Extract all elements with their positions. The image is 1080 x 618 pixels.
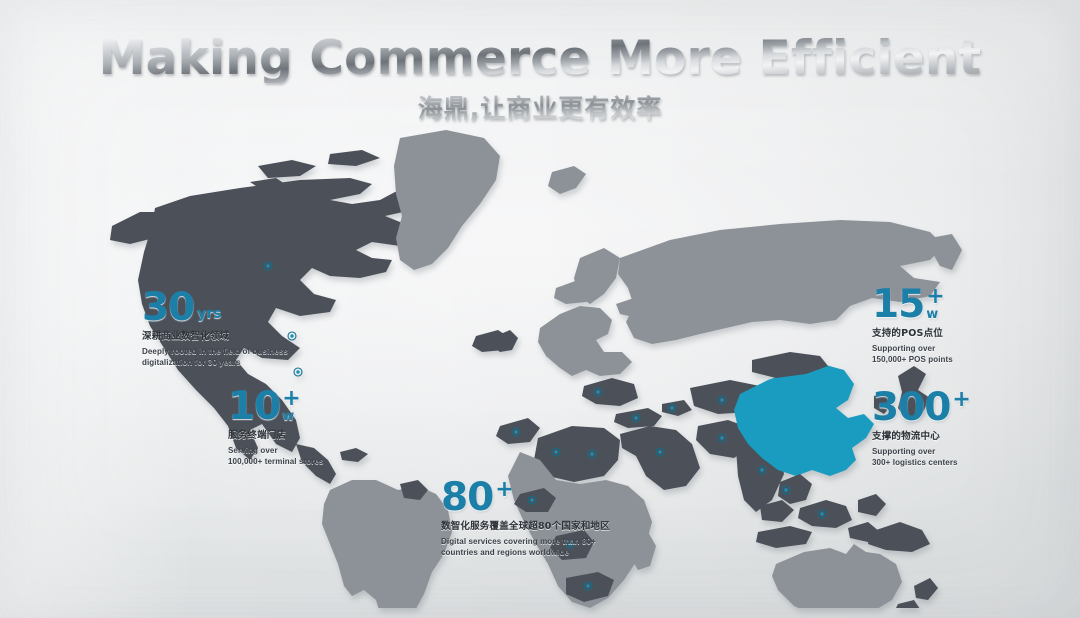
region-ukraine <box>582 378 638 406</box>
stat-suffix: + <box>495 480 513 499</box>
region-morocco <box>496 418 540 444</box>
stat-label-cn: 支撑的物流中心 <box>872 431 971 443</box>
stat-label-en: Deeply rooted in the field of business d… <box>142 346 288 369</box>
stat-label-en: Serving over 100,000+ terminal stores <box>228 445 324 468</box>
stat-number: 10 <box>228 389 280 425</box>
stat-en-line1: Supporting over <box>872 446 971 458</box>
stat-value: 80 + <box>441 480 610 516</box>
stat-unit: w <box>282 411 294 423</box>
stat-label-cn: 支持的POS点位 <box>872 328 953 340</box>
region-south-america <box>322 480 452 608</box>
page-subtitle: 海鼎,让商业更有效率 <box>0 89 1080 125</box>
stat-en-line2: 150,000+ POS points <box>872 354 953 366</box>
stat-callout-15w: 15 + w 支持的POS点位 Supporting over 150,000+… <box>872 287 953 366</box>
stat-plus: + <box>495 482 513 499</box>
stat-callout-80: 80 + 数智化服务覆盖全球超80个国家和地区 Digital services… <box>441 480 610 559</box>
stat-unit: yrs <box>197 308 221 321</box>
stat-value: 10 + w <box>228 389 324 425</box>
stat-value: 30 yrs <box>142 290 288 326</box>
region-greenland <box>394 130 500 270</box>
stat-number: 15 <box>872 287 924 323</box>
stat-number: 30 <box>142 290 194 326</box>
region-kamchatka <box>930 234 962 270</box>
stat-en-line2: 100,000+ terminal stores <box>228 456 324 468</box>
stat-en-line2: digitalization for 30 years <box>142 357 288 369</box>
region-australia <box>772 544 902 608</box>
region-papua-new-guinea <box>868 522 930 552</box>
stat-callout-30yrs: 30 yrs 深耕商业数智化领域 Deeply rooted in the fi… <box>142 290 288 369</box>
stat-unit: w <box>926 309 938 321</box>
stat-label-en: Supporting over 150,000+ POS points <box>872 343 953 366</box>
stat-suffix: + <box>952 390 970 409</box>
stat-label-cn: 深耕商业数智化领域 <box>142 331 288 343</box>
stat-en-line1: Deeply rooted in the field of business <box>142 346 288 358</box>
stat-label-en: Supporting over 300+ logistics centers <box>872 446 971 469</box>
stat-en-line2: countries and regions worldwide <box>441 547 610 559</box>
title-block: Making Commerce More Efficient 海鼎,让商业更有效… <box>0 34 1080 125</box>
stat-plus: + <box>282 391 300 408</box>
stat-plus: + <box>952 392 970 409</box>
stat-value: 300 + <box>872 390 971 426</box>
region-scandinavia <box>574 248 620 304</box>
stat-label-cn: 服务终端门店 <box>228 430 324 442</box>
region-turkey <box>614 408 662 428</box>
stat-label-cn: 数智化服务覆盖全球超80个国家和地区 <box>441 521 610 533</box>
region-middle-east <box>620 426 700 490</box>
stat-en-line1: Digital services covering more than 80+ <box>441 536 610 548</box>
stat-value: 15 + w <box>872 287 953 323</box>
stat-suffix: + w <box>926 287 944 320</box>
stat-en-line2: 300+ logistics centers <box>872 457 971 469</box>
stat-en-line1: Supporting over <box>872 343 953 355</box>
stat-en-line1: Serving over <box>228 445 324 457</box>
region-svalbard <box>548 166 586 194</box>
page-title: Making Commerce More Efficient <box>0 34 1080 83</box>
stat-number: 80 <box>441 480 493 516</box>
region-caucasus <box>662 400 692 416</box>
stat-number: 300 <box>872 390 950 426</box>
stat-label-en: Digital services covering more than 80+ … <box>441 536 610 559</box>
stat-suffix: + w <box>282 389 300 422</box>
stat-plus: + <box>926 289 944 306</box>
stat-callout-10w: 10 + w 服务终端门店 Serving over 100,000+ term… <box>228 389 324 468</box>
stat-callout-300: 300 + 支撑的物流中心 Supporting over 300+ logis… <box>872 390 971 469</box>
